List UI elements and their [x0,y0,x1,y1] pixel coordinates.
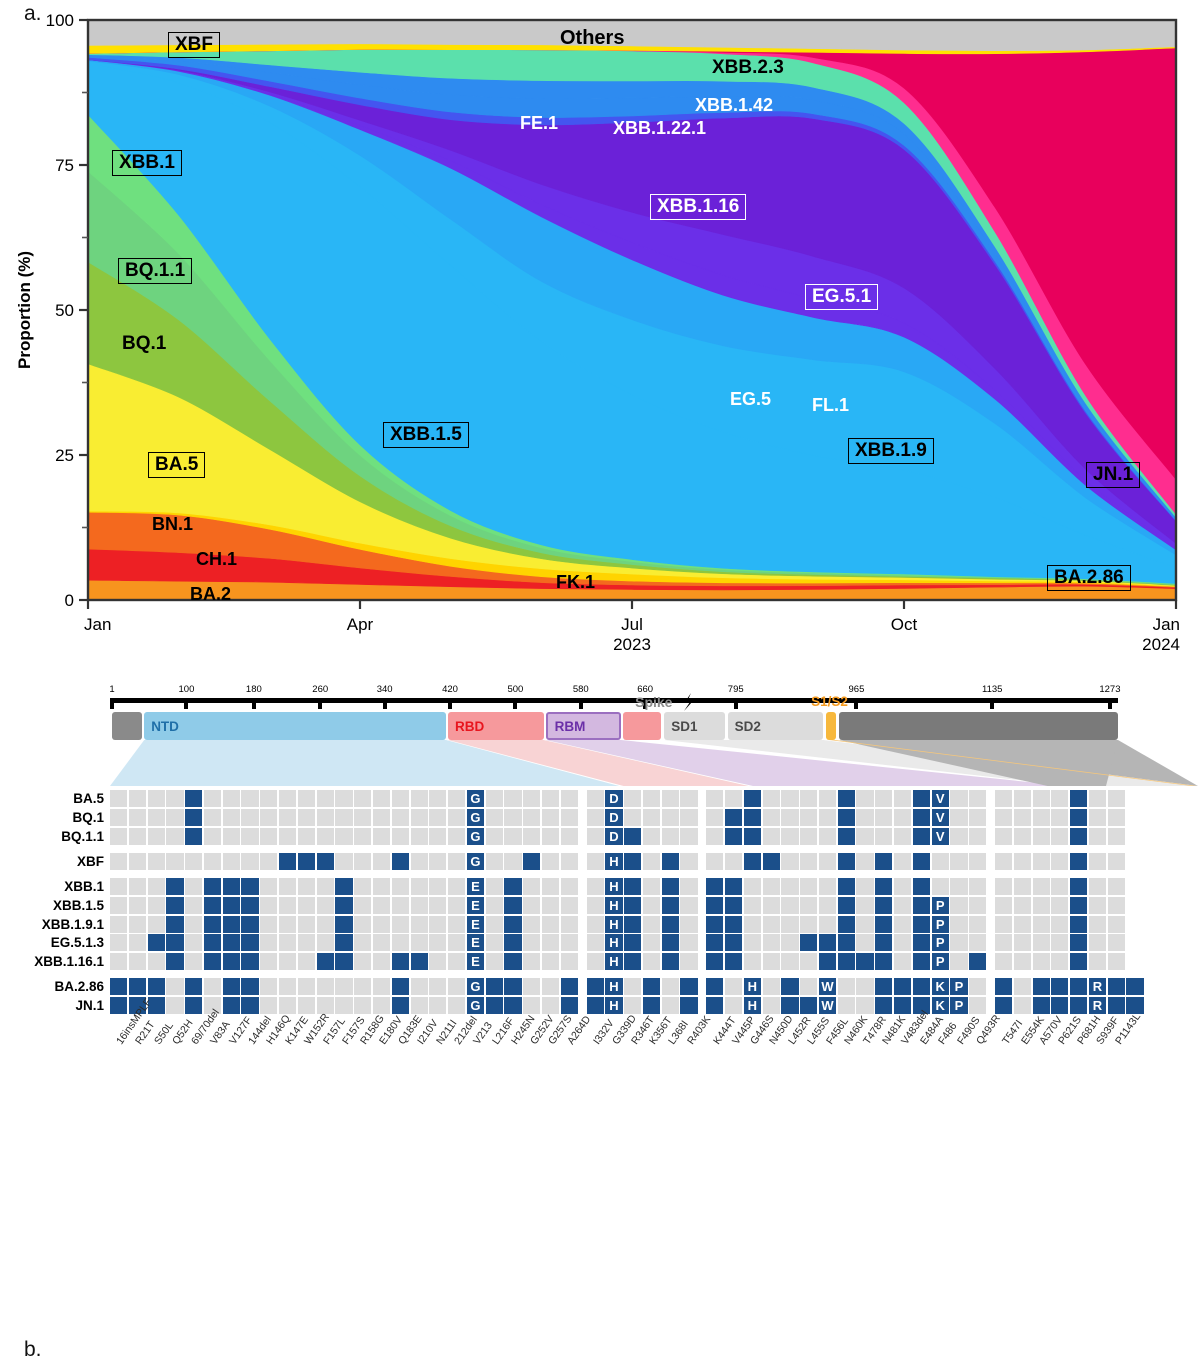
matrix-cell [486,934,503,951]
ruler-tick [184,698,188,709]
matrix-cell [706,853,723,870]
matrix-cell [335,853,352,870]
matrix-cell-letter: E [471,955,480,968]
stacked-area-chart: 0255075100JanAprJulOctJan20232024Proport… [0,0,1200,660]
matrix-cell [241,790,258,807]
matrix-cell [706,978,723,995]
matrix-cell [486,997,503,1014]
matrix-cell [1108,828,1125,845]
matrix-cell [317,853,334,870]
matrix-cell-letter: R [1093,980,1102,993]
matrix-cell [725,997,742,1014]
x-axis-year-2024: 2024 [1142,635,1180,654]
matrix-cell: R [1089,978,1106,995]
matrix-cell [429,953,446,970]
matrix-cell [260,809,277,826]
matrix-cell [542,916,559,933]
matrix-cell [587,916,604,933]
matrix-cell: E [467,934,484,951]
matrix-cell: H [605,916,622,933]
matrix-cell [800,953,817,970]
mutation-label: P1143L [1113,1011,1143,1047]
matrix-cell [744,828,761,845]
matrix-cell [969,790,986,807]
matrix-cell [1089,878,1106,895]
matrix-cell: G [467,997,484,1014]
x-tick-label: Oct [891,615,918,634]
matrix-cell [913,916,930,933]
matrix-cell [392,897,409,914]
matrix-cell [744,809,761,826]
matrix-cell [894,953,911,970]
matrix-cell: G [467,828,484,845]
matrix-cell [875,809,892,826]
matrix-cell: G [467,853,484,870]
matrix-cell [561,809,578,826]
matrix-cell [411,828,428,845]
matrix-cell [643,916,660,933]
matrix-cell [995,934,1012,951]
matrix-cell [643,853,660,870]
matrix-cell-letter: R [1093,999,1102,1012]
matrix-cell [662,828,679,845]
matrix-cell [504,953,521,970]
y-axis-title: Proportion (%) [15,251,34,369]
matrix-group-gap [988,809,995,826]
matrix-cell [448,853,465,870]
matrix-cell [373,878,390,895]
matrix-cell [298,809,315,826]
matrix-cell [373,978,390,995]
matrix-cell [706,897,723,914]
matrix-cell [819,934,836,951]
matrix-cell-letter: P [936,899,945,912]
matrix-cell [1014,790,1031,807]
matrix-cell [1014,809,1031,826]
matrix-cell [204,790,221,807]
matrix-cell-letter: H [609,899,618,912]
matrix-cell [1070,853,1087,870]
matrix-cell [298,828,315,845]
matrix-cell [950,853,967,870]
matrix-cell [819,828,836,845]
matrix-cell [856,790,873,807]
matrix-cell [504,878,521,895]
matrix-cell [392,934,409,951]
matrix-cell [643,828,660,845]
matrix-cell-letter: D [609,792,618,805]
matrix-cell [110,934,127,951]
ruler-tick-label: 580 [573,684,589,695]
matrix-cell [624,790,641,807]
matrix-cell [373,809,390,826]
matrix-cell [429,934,446,951]
matrix-cell [317,997,334,1014]
matrix-cell [429,997,446,1014]
mutation-matrix: BA.5GDVBQ.1GDVBQ.1.1GDVXBFGHXBB.1EHXBB.1… [110,790,1145,1016]
matrix-row-label: XBB.1.5 [53,897,104,914]
matrix-cell [706,878,723,895]
matrix-cell [1014,853,1031,870]
matrix-cell [542,897,559,914]
matrix-cell [1014,916,1031,933]
matrix-cell [110,828,127,845]
spike-domain-bar: Spike S1/S2 NTDRBDRBMSD1SD2 [112,712,1118,740]
matrix-cell [1051,997,1068,1014]
matrix-group-gap [988,878,995,895]
matrix-cell [643,897,660,914]
area-label-xbb-1-9: XBB.1.9 [848,438,934,464]
matrix-cell-letter: P [936,918,945,931]
matrix-cell [706,790,723,807]
matrix-cell [561,897,578,914]
matrix-cell [1089,853,1106,870]
matrix-cell [279,878,296,895]
matrix-cell [335,953,352,970]
matrix-cell-letter: H [609,999,618,1012]
matrix-cell [680,897,697,914]
matrix-cell [129,828,146,845]
matrix-cell [875,828,892,845]
matrix-cell [624,953,641,970]
matrix-cell [448,897,465,914]
matrix-cell [486,897,503,914]
matrix-cell-letter: H [609,855,618,868]
matrix-group-gap [580,916,587,933]
matrix-cell [486,953,503,970]
matrix-cell [317,809,334,826]
matrix-cell [643,953,660,970]
matrix-cell [587,853,604,870]
matrix-cell [913,897,930,914]
matrix-cell [354,828,371,845]
matrix-group-gap [699,853,706,870]
matrix-cell [279,916,296,933]
spike-protein-label: Spike [635,694,672,710]
area-label-ba-2-86: BA.2.86 [1047,565,1131,591]
matrix-cell [486,828,503,845]
matrix-cell [523,978,540,995]
matrix-cell [317,978,334,995]
matrix-cell [800,897,817,914]
matrix-cell [148,978,165,995]
matrix-cell [166,897,183,914]
matrix-group-gap [580,853,587,870]
matrix-cell [110,978,127,995]
matrix-cell [110,809,127,826]
spike-domain-segment [826,712,836,740]
area-label-fl-1: FL.1 [812,396,849,414]
matrix-cell [856,878,873,895]
matrix-cell: H [605,953,622,970]
matrix-cell [744,897,761,914]
matrix-cell [317,878,334,895]
spike-domain-rbd: RBD [448,712,544,740]
ruler-tick-label: 500 [507,684,523,695]
matrix-cell [129,853,146,870]
matrix-cell: D [605,809,622,826]
matrix-cell [1089,953,1106,970]
matrix-cell [1108,978,1125,995]
panel-b-spike-mutations: b. 1100180260340420500580660795965113512… [0,660,1200,1114]
matrix-cell [1089,934,1106,951]
matrix-group-gap [580,790,587,807]
matrix-cell [1108,916,1125,933]
matrix-cell [894,916,911,933]
matrix-cell: G [467,809,484,826]
matrix-cell [298,897,315,914]
matrix-cell-letter: H [748,999,757,1012]
matrix-cell [950,790,967,807]
matrix-row-label: BQ.1.1 [61,828,104,845]
matrix-cell [875,997,892,1014]
matrix-cell [166,828,183,845]
matrix-cell [763,809,780,826]
matrix-cell [223,916,240,933]
matrix-cell-letter: V [936,792,945,805]
matrix-cell [856,953,873,970]
matrix-cell [819,897,836,914]
matrix-cell [1014,934,1031,951]
matrix-cell [561,916,578,933]
matrix-cell [781,934,798,951]
area-label-bq-1-1: BQ.1.1 [118,258,192,284]
matrix-cell [411,916,428,933]
matrix-cell [838,790,855,807]
matrix-cell [429,978,446,995]
matrix-cell [725,953,742,970]
matrix-cell [781,853,798,870]
matrix-cell [185,828,202,845]
matrix-cell [448,997,465,1014]
matrix-cell [317,790,334,807]
matrix-cell [260,878,277,895]
matrix-cell [110,853,127,870]
matrix-cell [561,997,578,1014]
matrix-cell [204,978,221,995]
matrix-cell [561,878,578,895]
matrix-cell [1033,978,1050,995]
ruler-tick [110,698,114,709]
matrix-cell-letter: K [935,980,944,993]
matrix-cell [223,934,240,951]
ruler-bar [112,698,1118,703]
matrix-cell [148,953,165,970]
matrix-cell: E [467,878,484,895]
matrix-cell [781,809,798,826]
matrix-cell [373,790,390,807]
matrix-cell [129,809,146,826]
matrix-cell [913,853,930,870]
matrix-cell [448,953,465,970]
matrix-cell [1014,953,1031,970]
spike-domain-rbm: RBM [546,712,621,740]
matrix-cell [110,897,127,914]
matrix-cell: R [1089,997,1106,1014]
matrix-cell [185,809,202,826]
matrix-cell [354,897,371,914]
matrix-cell [298,853,315,870]
matrix-cell [725,809,742,826]
matrix-cell [763,916,780,933]
matrix-cell [1014,828,1031,845]
matrix-row-label: XBB.1.9.1 [42,916,104,933]
matrix-cell [317,934,334,951]
matrix-group-gap [988,853,995,870]
matrix-cell [223,828,240,845]
matrix-cell [129,878,146,895]
matrix-cell [148,853,165,870]
matrix-cell [838,828,855,845]
matrix-cell [561,828,578,845]
matrix-cell: P [932,953,949,970]
matrix-cell [624,828,641,845]
matrix-cell [166,916,183,933]
matrix-cell [279,934,296,951]
matrix-cell [662,934,679,951]
matrix-cell [587,828,604,845]
matrix-cell-letter: H [609,936,618,949]
matrix-cell [241,897,258,914]
matrix-cell [1070,878,1087,895]
matrix-cell [260,934,277,951]
matrix-cell [260,978,277,995]
matrix-cell [624,809,641,826]
matrix-cell: P [950,997,967,1014]
matrix-cell [950,916,967,933]
matrix-cell [504,934,521,951]
ruler-tick-label: 260 [312,684,328,695]
matrix-cell [542,853,559,870]
matrix-group-gap [580,953,587,970]
matrix-cell [706,953,723,970]
matrix-cell [373,916,390,933]
area-label-fk-1: FK.1 [556,573,595,591]
matrix-cell-letter: V [936,811,945,824]
matrix-cell [838,953,855,970]
matrix-cell [129,978,146,995]
matrix-cell [624,934,641,951]
matrix-cell [1033,878,1050,895]
matrix-cell [129,934,146,951]
matrix-cell [148,809,165,826]
matrix-cell [166,978,183,995]
matrix-cell: E [467,897,484,914]
matrix-cell [129,953,146,970]
matrix-cell [392,997,409,1014]
matrix-row: XBB.1.9.1EHP [110,916,1145,933]
matrix-cell: H [605,997,622,1014]
matrix-cell [204,953,221,970]
matrix-cell [894,828,911,845]
matrix-cell [1070,934,1087,951]
matrix-cell [335,897,352,914]
matrix-cell [1051,916,1068,933]
matrix-cell [1070,790,1087,807]
matrix-cell [1014,897,1031,914]
matrix-cell [781,997,798,1014]
matrix-cell [587,809,604,826]
matrix-cell-letter: P [936,936,945,949]
matrix-cell [523,934,540,951]
area-label-others: Others [560,28,624,48]
mutation-axis-labels: 16insMPLFR21TS50LQ52H69/70delV83AV127F14… [110,1038,1200,1114]
matrix-cell [148,878,165,895]
matrix-cell [223,853,240,870]
matrix-group-gap [988,828,995,845]
matrix-cell [838,997,855,1014]
matrix-cell [1033,897,1050,914]
matrix-cell [373,897,390,914]
spike-position-ruler: 110018026034042050058066079596511351273 [112,684,1118,710]
matrix-cell [995,916,1012,933]
matrix-cell [260,790,277,807]
matrix-cell [392,916,409,933]
matrix-cell [1126,978,1143,995]
matrix-cell [223,790,240,807]
area-label-xbb-2-3: XBB.2.3 [712,58,784,77]
matrix-cell [279,978,296,995]
matrix-cell [763,953,780,970]
x-tick-label: Apr [347,615,374,634]
matrix-cell: H [605,897,622,914]
matrix-cell [819,809,836,826]
matrix-cell-letter: H [609,880,618,893]
matrix-cell [110,997,127,1014]
matrix-cell [504,916,521,933]
matrix-cell [148,828,165,845]
matrix-cell [1033,790,1050,807]
matrix-cell [223,978,240,995]
matrix-cell [1070,809,1087,826]
matrix-cell [486,809,503,826]
matrix-row-label: BA.5 [73,790,104,807]
matrix-cell [643,790,660,807]
matrix-group-gap [988,978,995,995]
matrix-cell [148,934,165,951]
ruler-tick-label: 420 [442,684,458,695]
matrix-group-gap [580,897,587,914]
matrix-cell [298,878,315,895]
y-tick-label: 25 [55,446,74,465]
matrix-cell [354,878,371,895]
matrix-cell [373,953,390,970]
matrix-cell [110,790,127,807]
matrix-cell [725,790,742,807]
spike-domain-segment [623,712,661,740]
matrix-cell [1108,934,1125,951]
matrix-cell [523,916,540,933]
matrix-cell [279,953,296,970]
matrix-cell [781,897,798,914]
matrix-cell [354,809,371,826]
ruler-tick [579,698,583,709]
matrix-cell [523,828,540,845]
matrix-cell [995,878,1012,895]
matrix-cell [223,878,240,895]
matrix-cell-letter: G [470,792,480,805]
y-tick-label: 100 [46,11,74,30]
matrix-cell [335,997,352,1014]
matrix-cell [260,916,277,933]
matrix-row: BA.5GDV [110,790,1145,807]
matrix-cell [279,853,296,870]
ruler-tick-label: 100 [179,684,195,695]
matrix-cell [1051,853,1068,870]
matrix-cell [166,790,183,807]
matrix-cell [800,997,817,1014]
matrix-cell [1089,897,1106,914]
